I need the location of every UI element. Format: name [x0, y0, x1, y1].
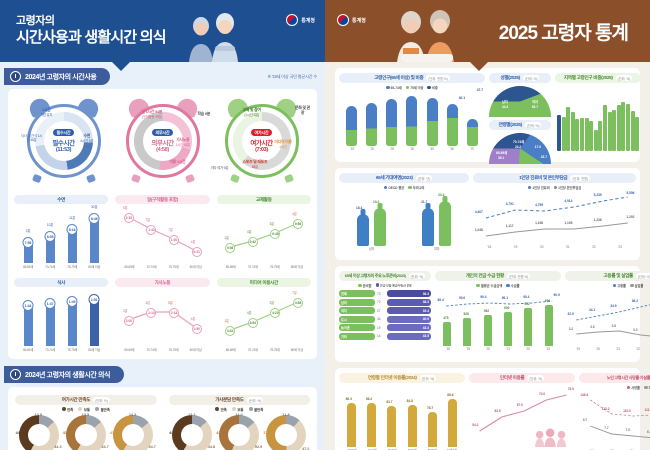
- mini-title-media: 미디어 이용시간: [217, 278, 311, 287]
- legend-item: 만족: [62, 407, 74, 412]
- chart-pension: 개인의 연금 수급 현황 (단위: 천원,%) 월평균 수급금액 수급률 478…: [435, 271, 561, 357]
- bar-item: 1:47: [46, 300, 55, 346]
- bar-item: 11분 8:16: [68, 226, 77, 263]
- bar-item: [621, 102, 625, 151]
- clock3-label-far: 문화 및 관광: [295, 106, 311, 115]
- bar-item: [557, 115, 561, 151]
- hbar-row: 농어촌 19 43.3: [339, 324, 431, 331]
- head-pension: 개인의 연금 수급 현황 (단위: 천원,%): [435, 271, 561, 281]
- chart-employment: 고용률 및 실업률 (단위: %) 고용률 실업률 32.9 34.1 34.9…: [565, 271, 650, 357]
- legend-item: OECD 평균: [384, 185, 404, 190]
- right-title: 2025 고령자 통계: [499, 18, 650, 45]
- head-age-group: 연령별(2025) (단위: %): [489, 120, 551, 130]
- legend-mortality: 사망률 자살률: [579, 385, 650, 390]
- chart-gender: 성별(2025) (단위: %) 남자 44.3 여자 55.7: [489, 73, 551, 117]
- bar-item: 78.7: [428, 412, 437, 447]
- line-path: [435, 290, 561, 346]
- hbar-row: 도시 34 40.9: [339, 316, 431, 323]
- kostat-logo-left: 통계청: [286, 14, 315, 26]
- chart-medical-cost: 1인당 진료비 및 본인부담금 (단위: 천원) 1인당 진료비 1인당 본인부…: [473, 173, 636, 255]
- bar-item: [575, 119, 579, 151]
- xaxis-social: 65-69세 70-74세 75-79세 80세 이상: [217, 263, 311, 269]
- clock-obligatory-time: 의무시간 의무시간 (4:58) 일 1시간 54분(구직활동 포함) 가사노동…: [114, 98, 212, 186]
- elderly-group-illustration: [533, 428, 571, 447]
- donut-group-leisure: 여가시간 만족도 (단위: %) 만족 보통 불만족 44.2 13.5 44.…: [12, 392, 160, 450]
- bar-item: [635, 117, 639, 151]
- bar-item: 84.8: [408, 405, 417, 447]
- left-header: 고령자의 시간사용과 생활시간 의식 통계청: [0, 0, 325, 62]
- semi-donut-gender: 남자 44.3 여자 55.7: [489, 86, 551, 117]
- head-life-expectancy: 65세 기대여명(2023) (단위: 년): [339, 173, 469, 183]
- bar-item: 10분 8:05: [46, 233, 55, 263]
- xaxis-employment: '19 '20 '21 '22 '23 '24: [565, 346, 650, 351]
- plot-sleep: 3분 7:56 10분 8:05 11분 8:16 30분 8:46: [14, 207, 108, 263]
- right-row4-card: 연령별 인터넷 이용률(2024) (단위: %) 86.3 86.2 83.7…: [335, 368, 640, 450]
- agency-name-right: 통계청: [352, 17, 366, 24]
- legend-item: 자살률: [644, 385, 650, 390]
- mini-chart-sleep: 수면 3분 7:56 10분 8:05 11분 8:16 30분 8:46: [12, 192, 110, 271]
- bottle-bar: 23.4: [439, 201, 451, 246]
- bar-item: [589, 121, 593, 151]
- clock-icon: [10, 71, 21, 82]
- head-internet-by-age: 연령별 인터넷 이용률(2024) (단위: %): [339, 373, 465, 383]
- donut-row-leisure: 44.2 13.5 44.3 41.8 13.5 44.7 41.0 14.3: [15, 415, 157, 450]
- section2-label: 2024년 고령자의 생활시간 의식: [4, 366, 124, 383]
- plot-life-expectancy: 18.3 19.2 21.7 23.4: [339, 194, 469, 246]
- bar-item: [631, 111, 635, 151]
- clock3-value: 여가시간: [250, 137, 272, 147]
- chart-age-group: 연령별(2025) (단위: %) 65-69세 35.1 70-74세 24.…: [489, 120, 551, 164]
- satisfaction-card: 여가시간 만족도 (단위: %) 만족 보통 불만족 44.2 13.5 44.…: [8, 387, 317, 450]
- legend-retirement-prep: 준비함 연금·보험·예금/부동산 운용: [339, 283, 431, 288]
- right-row2-card: 65세 기대여명(2023) (단위: 년) OECD 평균 우리나라 18.3…: [335, 168, 640, 260]
- hbar-row: 남자 72 38.3: [339, 299, 431, 306]
- head-employment: 고용률 및 실업률 (단위: %): [565, 271, 650, 281]
- plot-meal: 1:44 1:47 1:49 1:51: [14, 290, 108, 346]
- bar-item: 86.3: [347, 403, 356, 447]
- donut-chart: 44.2 13.5 44.3: [19, 415, 59, 450]
- chart-internet-trend: 인터넷 이용률 (단위: %) 54.2 63.5 67.0 74.0 76.9: [469, 373, 575, 450]
- clock3-time: (7:03): [255, 147, 268, 153]
- line-paths: [579, 392, 650, 448]
- bar-item: [603, 105, 607, 151]
- clock-icon: [10, 369, 21, 380]
- hbar-row: 전체 73 36.3: [339, 290, 431, 297]
- clock1-label-right: 수면8시간 5분: [81, 134, 94, 143]
- legend-item: 1인당 진료비: [528, 185, 550, 190]
- plot-work: 2:35 5분 1:42 7분 1:20 7분 0:31 4분: [115, 207, 209, 263]
- stacked-bar: [427, 98, 438, 146]
- chart-region: 지역별 고령인구 비중(2025) (단위: %): [555, 73, 641, 157]
- bar-item: 30분 8:46: [90, 215, 99, 263]
- clock3-label-bottom: 스포츠 및 레포츠53분: [243, 160, 268, 169]
- head-region: 지역별 고령인구 비중(2025) (단위: %): [555, 73, 641, 83]
- bar-item: 1:49: [68, 298, 77, 346]
- donut-legend-housework: 만족 보통 불만족: [169, 407, 311, 412]
- legend-item: 불만족: [95, 407, 110, 412]
- plot-social: 0:36 1분 0:42 4분 0:48 3분 0:56 4분: [217, 207, 311, 263]
- right-panel: 통계청 2025 고령자 통계 고령인구(65세 이상) 및 비중 (단위: 천…: [325, 0, 650, 450]
- chart-retirement-prep: 65세 이상 고령자의 주요 노후준비(2023) (단위: %) 준비함 연금…: [339, 271, 431, 357]
- donut-groups: 여가시간 만족도 (단위: %) 만족 보통 불만족 44.2 13.5 44.…: [12, 392, 313, 450]
- line-paths: [473, 192, 636, 244]
- left-title-line2: 시간사용과 생활시간 의식: [16, 29, 166, 48]
- clock1-pill: 필수시간: [53, 129, 75, 136]
- semi-donut-age: 65-69세 35.1 70-74세 24.2 17.0 23.7: [489, 133, 551, 164]
- clock2-label-far: 학습 9분: [198, 112, 211, 117]
- clock2-time: (4:58): [156, 147, 169, 153]
- clock2-label-top: 일 1시간 54분(구직활동 포함): [142, 110, 163, 119]
- bar-item: 83.7: [387, 406, 396, 447]
- head-internet-trend: 인터넷 이용률 (단위: %): [469, 373, 575, 383]
- donut-head-housework: 가사분담 만족도 (단위: %): [169, 395, 311, 405]
- section1-label: 2024년 고령자의 시간사용: [4, 68, 110, 85]
- group-male: 18.3 19.2: [357, 208, 386, 246]
- stacked-bar: [386, 99, 397, 146]
- xaxis-housework: 65-69세 70-74세 75-79세 80세 이상: [115, 346, 209, 352]
- xaxis-elderly-population: '15 '20 '25 '30 '40 '50 '70: [339, 146, 485, 151]
- clock2-value: 의무시간: [151, 137, 173, 147]
- clock3-pill: 여가시간: [251, 129, 273, 136]
- legend-item: 만족: [215, 407, 227, 412]
- mini-chart-social: 교제활동 0:36 1분 0:42 4분 0:48 3분 0:56 4분 65-…: [215, 192, 313, 271]
- head-gender: 성별(2025) (단위: %): [489, 73, 551, 83]
- left-panel: 고령자의 시간사용과 생활시간 의식 통계청 2024년 고령자의 시간사용 ※…: [0, 0, 325, 450]
- mini-title-housework: 가사노동: [115, 278, 209, 287]
- head-medical-cost: 1인당 진료비 및 본인부담금 (단위: 천원): [473, 173, 636, 183]
- korea-flag-logo-icon: [286, 14, 298, 26]
- section1-note: ※ '19세 이상 국민 평균시간 수: [267, 74, 317, 80]
- bar-item: 1:51: [90, 296, 99, 346]
- plot-medical-cost: 4,407 4,791 4,759 4,914 5,239 5,506 1,04…: [473, 192, 636, 244]
- plot-media: 3:31 1분 3:54 4분 4:20 2분 4:58 7분: [217, 290, 311, 346]
- bar-item: [626, 104, 630, 151]
- plot-housework: 2:00 3분 2:14 4분 2:18 5분 1:50 4분: [115, 290, 209, 346]
- section1-row: 2024년 고령자의 시간사용 ※ '19세 이상 국민 평균시간 수: [0, 68, 325, 85]
- clock1-time: (11:53): [56, 147, 71, 153]
- bar-item: 1:44: [24, 302, 33, 346]
- head-retirement-prep: 65세 이상 고령자의 주요 노후준비(2023) (단위: %): [339, 271, 431, 281]
- elderly-couple-illustration-right: [387, 8, 465, 62]
- donut-row-housework: 44.0 13.2 44.8 43.0 14.0 52.9 37.7 11.8: [169, 415, 311, 450]
- header-notch-right: [470, 62, 488, 71]
- clock-required-time: 필수시간 필수시간 (11:53) 1시간개인유지 수면8시간 5분 식사 및 …: [15, 98, 113, 186]
- left-title-block: 고령자의 시간사용과 생활시간 의식: [0, 15, 166, 48]
- bottle-bar: 19.2: [374, 208, 386, 246]
- clock2-label-right: 가사노동1시간 42분: [176, 138, 191, 147]
- bar-item: [571, 112, 575, 151]
- legend-item: 월평균 수급금액: [476, 283, 502, 288]
- stacked-bar: [346, 106, 357, 146]
- legend-employment: 고용률 실업률: [565, 283, 650, 288]
- donut-head-leisure: 여가시간 만족도 (단위: %): [15, 395, 157, 405]
- donut-group-housework: 가사분담 만족도 (단위: %) 만족 보통 불만족 44.0 13.2 44.…: [166, 392, 314, 450]
- mini-title-sleep: 수면: [14, 195, 108, 204]
- line-point: 2:35: [124, 213, 134, 223]
- clock2-label-bottom: 이동 1시간: [170, 160, 186, 165]
- xaxis-meal: 65-69세 70-74세 75-79세 80세 이상: [14, 346, 108, 352]
- mini-title-social: 교제활동: [217, 195, 311, 204]
- bar-item: 3분 7:56: [24, 239, 33, 263]
- line-point: 0:31: [192, 247, 202, 257]
- right-row3-card: 65세 이상 고령자의 주요 노후준비(2023) (단위: %) 준비함 연금…: [335, 266, 640, 362]
- chart-elderly-population: 고령인구(65세 이상) 및 비중 (단위: 천명,%) 65-74세 75세 …: [339, 73, 485, 157]
- hbar-list: 전체 73 36.3 남자 72 38.3 여자 27 39.3 도시 34: [339, 290, 431, 340]
- legend-pension: 월평균 수급금액 수급률: [435, 283, 561, 288]
- legend-item: 실업률: [630, 283, 643, 288]
- mini-chart-meal: 식사 1:44 1:47 1:49 1:51 65-69세 70-74세 75-…: [12, 275, 110, 354]
- legend-item: 고용률: [613, 283, 626, 288]
- donut-chart: 37.7 11.8 47.2: [266, 415, 306, 450]
- legend-medical-cost: 1인당 진료비 1인당 본인부담금: [473, 185, 636, 190]
- plot-mortality: 146.6 113.2 110.0 111.5 111.6 106.5 9.7 …: [579, 392, 650, 448]
- bottle-bar: 18.3: [357, 214, 369, 246]
- mini-title-work: 일(구직활동 포함): [115, 195, 209, 204]
- donut-chart: 41.0 14.3 44.7: [113, 415, 153, 450]
- head-elderly-population: 고령인구(65세 이상) 및 비중 (단위: 천명,%): [339, 73, 485, 83]
- mini-title-meal: 식사: [14, 278, 108, 287]
- mini-charts-row1: 수면 3분 7:56 10분 8:05 11분 8:16 30분 8:46: [12, 192, 313, 271]
- bar-item: [585, 118, 589, 151]
- legend-item: 보통: [232, 407, 244, 412]
- head-mortality: 노인 고령시간 사망률·자살률 (단위: 명/10만): [579, 373, 650, 383]
- legend-item: 수급률: [506, 283, 519, 288]
- clock3-label-leftbottom: 기타 여가 9분: [211, 166, 229, 170]
- chart-mortality: 노인 고령시간 사망률·자살률 (단위: 명/10만) 사망률 자살률 146.…: [579, 373, 650, 450]
- donut-legend-leisure: 만족 보통 불만족: [15, 407, 157, 412]
- bar-item: 88.6: [448, 399, 457, 447]
- header-notch-left: [112, 62, 130, 71]
- clock3-label-right: 미디어 이용4시간: [275, 140, 292, 149]
- bar-item: [617, 105, 621, 151]
- xaxis-media: 65-69세 70-74세 75-79세 80세 이상: [217, 346, 311, 352]
- xaxis-sleep: 65-69세 70-74세 75-79세 80세 이상: [14, 263, 108, 269]
- chart-internet-by-age: 연령별 인터넷 이용률(2024) (단위: %) 86.3 86.2 83.7…: [339, 373, 465, 450]
- legend-item: 불만족: [249, 407, 264, 412]
- mini-chart-housework: 가사노동 2:00 3분 2:14 4분 2:18 5분 1:50 4분 65-…: [113, 275, 211, 354]
- plot-internet-trend: 54.2 63.5 67.0 74.0 76.9: [469, 387, 575, 449]
- xaxis-work: 65-69세 70-74세 75-79세 80세 이상: [115, 263, 209, 269]
- time-use-card: 필수시간 필수시간 (11:53) 1시간개인유지 수면8시간 5분 식사 및 …: [8, 89, 317, 359]
- stacked-bar: [467, 119, 478, 146]
- plot-pension: 478 528 562 600 652 696 89.4 90.0 90.4 9…: [435, 290, 561, 346]
- legend-item: 1인당 본인부담금: [554, 185, 582, 190]
- clock-group: 필수시간 필수시간 (11:53) 1시간개인유지 수면8시간 5분 식사 및 …: [12, 94, 313, 188]
- agency-name-left: 통계청: [301, 17, 315, 24]
- donut-chart: 43.0 14.0 52.9: [219, 415, 259, 450]
- legend-item: 연금·보험·예금/부동산 운용: [376, 283, 412, 288]
- plot-region: [555, 89, 641, 151]
- mini-chart-media: 미디어 이용시간 3:31 1분 3:54 4분 4:20 2분 4:58 7분…: [215, 275, 313, 354]
- xaxis-pension: '18 '19 '20 '21 '22 '23: [435, 346, 561, 351]
- mini-charts-row2: 식사 1:44 1:47 1:49 1:51 65-69세 70-74세 75-…: [12, 275, 313, 354]
- plot-internet-by-age: 86.3 86.2 83.7 84.8 78.7 88.6: [339, 389, 465, 447]
- stacked-bar: [366, 103, 377, 146]
- bar-item: [612, 110, 616, 151]
- clock2-pill: 의무시간: [152, 129, 174, 136]
- section1-text: 2024년 고령자의 시간사용: [25, 72, 96, 82]
- line-point: 0:42: [248, 237, 258, 247]
- chart-life-expectancy: 65세 기대여명(2023) (단위: 년) OECD 평균 우리나라 18.3…: [339, 173, 469, 255]
- bottle-bar: 21.7: [422, 208, 434, 246]
- bar-item: [562, 117, 566, 151]
- kostat-logo-right: 통계청: [337, 14, 366, 26]
- clock1-value: 필수시간: [52, 137, 74, 147]
- stacked-bar: [406, 96, 417, 146]
- section2-row: 2024년 고령자의 생활시간 의식: [0, 366, 325, 383]
- bar-item: [580, 118, 584, 151]
- mini-chart-work: 일(구직활동 포함) 2:35 5분 1:42 7분 1:20 7분 0:31 …: [113, 192, 211, 271]
- legend-item: 준비함: [358, 283, 371, 288]
- bar-item: [598, 121, 602, 151]
- clock1-label-top: 1시간개인유지: [41, 108, 53, 117]
- elderly-couple-illustration: [181, 10, 247, 62]
- clock-leisure-time: 여가시간 여가시간 (7:03) 교제 및 참여(1시간 2분) 미디어 이용4…: [213, 98, 311, 186]
- legend-item: 우리나라: [408, 185, 424, 190]
- plot-employment: 32.9 34.1 34.9 36.2 37.3 38.2 3.2 3.6 3.…: [565, 290, 650, 346]
- section2-text: 2024년 고령자의 생활시간 의식: [25, 370, 110, 380]
- group-female: 21.7 23.4: [422, 201, 451, 246]
- bar-item: [566, 107, 570, 151]
- right-header: 통계청 2025 고령자 통계: [325, 0, 650, 62]
- xaxis-life-expectancy: 남자 여자: [339, 246, 469, 251]
- legend-item: 보통: [78, 407, 90, 412]
- clock1-label-left: 식사 및 간식 1시간 45분: [21, 134, 43, 143]
- donut-chart: 44.0 13.2 44.8: [172, 415, 212, 450]
- left-title-line1: 고령자의: [16, 15, 166, 29]
- gender-age-block: 성별(2025) (단위: %) 남자 44.3 여자 55.7 연령별(202…: [489, 73, 551, 157]
- plot-elderly-population: 47.7 40.1: [339, 90, 485, 146]
- hbar-row: 여자 27 39.3: [339, 307, 431, 314]
- legend-item: 사망률: [627, 385, 640, 390]
- xaxis-medical-cost: '18 '19 '20 '21 '22 '23: [473, 244, 636, 249]
- bar-item: [608, 112, 612, 151]
- hbar-row: 기타 14 43.5: [339, 333, 431, 340]
- donut-chart: 41.8 13.5 44.7: [66, 415, 106, 450]
- stacked-bar: [447, 104, 458, 146]
- bar-item: [594, 130, 598, 151]
- clock3-label-top: 교제 및 참여(1시간 2분): [243, 108, 261, 117]
- right-row1-card: 고령인구(65세 이상) 및 비중 (단위: 천명,%) 65-74세 75세 …: [335, 68, 640, 162]
- bar-item: 86.2: [367, 403, 376, 447]
- legend-life-expectancy: OECD 평균 우리나라: [339, 185, 469, 190]
- korea-flag-logo-icon: [337, 14, 349, 26]
